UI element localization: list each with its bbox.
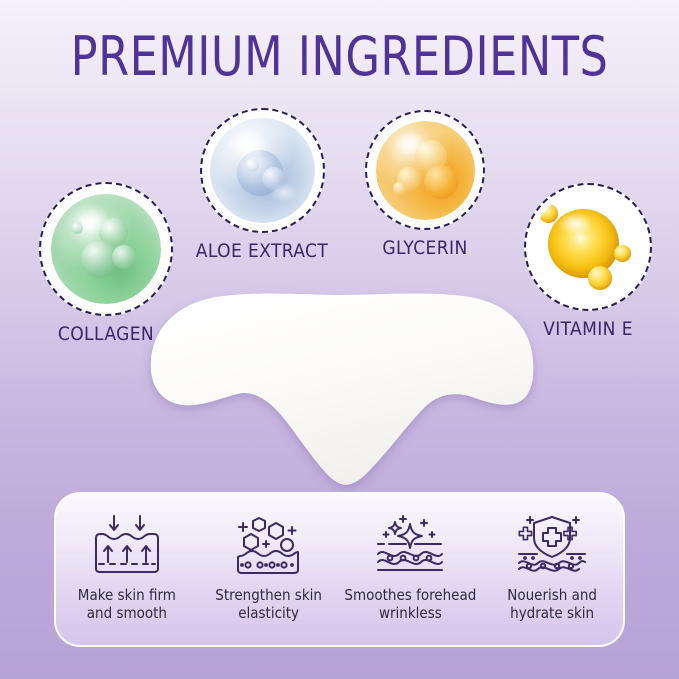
benefit-label-line1: Make skin firm xyxy=(57,586,197,604)
blue-water-droplet-icon xyxy=(210,118,315,223)
benefit-item-hydration: Nouerish and hydrate skin xyxy=(482,512,622,622)
aloe-bubble-ring xyxy=(200,108,325,233)
page-title: PREMIUM INGREDIENTS xyxy=(27,26,652,88)
benefit-label-line2: hydrate skin xyxy=(482,604,622,622)
ingredient-glycerin: GLYCERIN xyxy=(345,110,505,259)
amber-gel-droplet-icon xyxy=(376,121,475,220)
benefit-label-firmness: Make skin firm and smooth xyxy=(57,586,197,622)
benefit-label-line2: and smooth xyxy=(57,604,197,622)
skin-molecules-hexagon-icon xyxy=(199,512,339,578)
glycerin-bubble-ring xyxy=(365,110,485,230)
benefit-item-wrinkles: Smoothes forehead wrinkless xyxy=(340,512,480,622)
benefits-panel: Make skin firm and smooth xyxy=(54,492,625,647)
ingredient-label-aloe-extract: ALOE EXTRACT xyxy=(182,240,342,262)
benefit-label-line2: wrinkless xyxy=(340,604,480,622)
benefit-item-elasticity: Strengthen skin elasticity xyxy=(199,512,339,622)
ingredient-aloe-extract: ALOE EXTRACT xyxy=(182,108,342,262)
benefit-label-line1: Nouerish and xyxy=(482,586,622,604)
benefit-label-line2: elasticity xyxy=(199,604,339,622)
benefit-label-hydration: Nouerish and hydrate skin xyxy=(482,586,622,622)
skin-sparkle-smooth-icon xyxy=(340,512,480,578)
benefit-item-firmness: Make skin firm and smooth xyxy=(57,512,197,622)
premium-ingredients-poster: PREMIUM INGREDIENTS COLLAGEN xyxy=(0,0,679,679)
ingredient-label-glycerin: GLYCERIN xyxy=(345,237,505,259)
skin-firming-arrows-icon xyxy=(57,512,197,578)
forehead-wrinkle-patch xyxy=(127,283,557,498)
benefit-label-wrinkles: Smoothes forehead wrinkless xyxy=(340,586,480,622)
benefit-label-line1: Strengthen skin xyxy=(199,586,339,604)
benefit-label-line1: Smoothes forehead xyxy=(340,586,480,604)
skin-shield-protection-icon xyxy=(482,512,622,578)
benefit-label-elasticity: Strengthen skin elasticity xyxy=(199,586,339,622)
